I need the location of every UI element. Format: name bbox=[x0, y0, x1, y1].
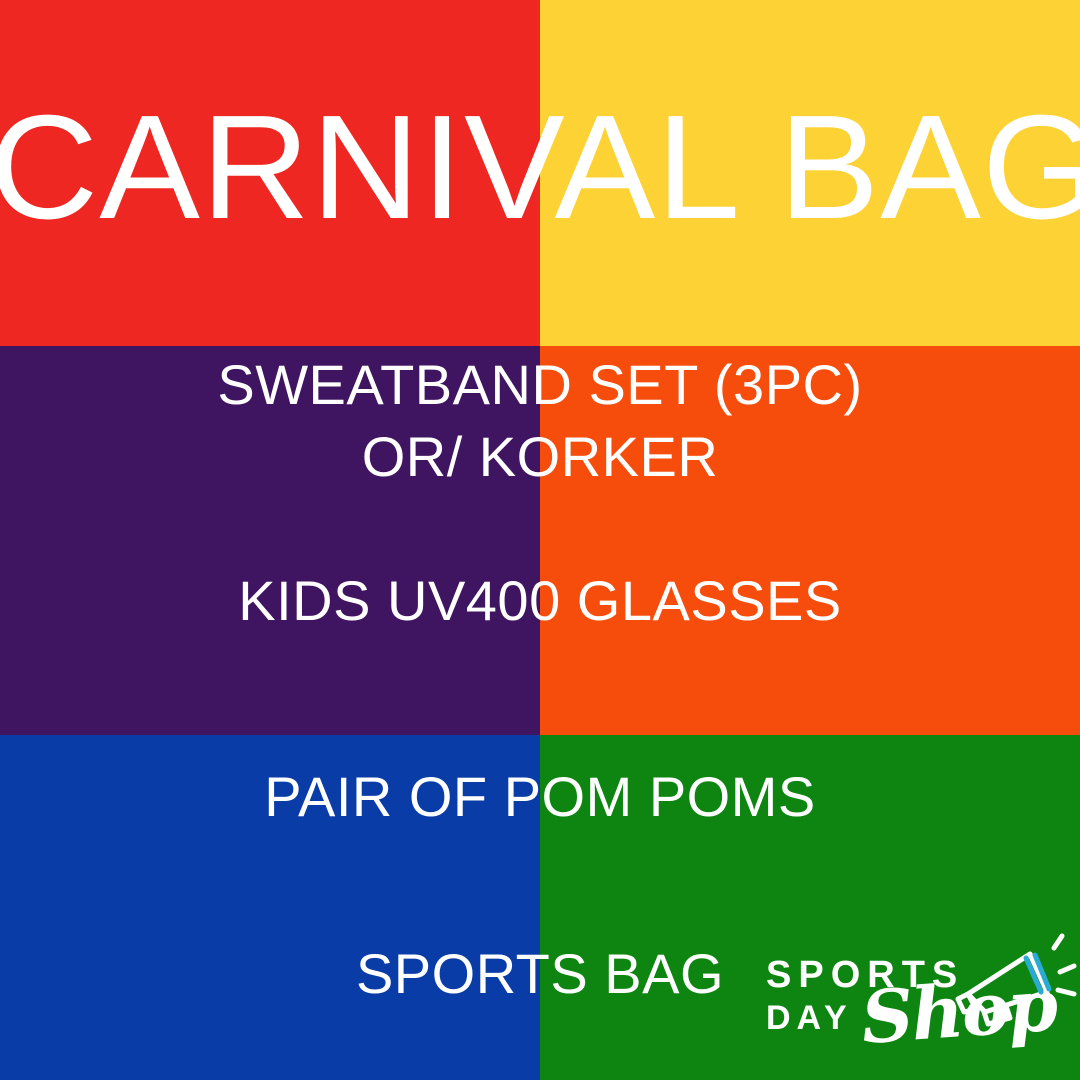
carnival-bag-poster: CARNIVAL BAG SWEATBAND SET (3PC) OR/ KOR… bbox=[0, 0, 1080, 1080]
megaphone-icon bbox=[948, 932, 1080, 1038]
sportsdayshop-logo: SPORTS DAY Shop bbox=[752, 938, 1072, 1068]
item-korker-alternative: OR/ KORKER bbox=[0, 424, 1080, 490]
poster-title: CARNIVAL BAG bbox=[0, 94, 1080, 242]
logo-word-day: DAY bbox=[766, 1001, 853, 1035]
item-kids-uv400-glasses: KIDS UV400 GLASSES bbox=[0, 568, 1080, 634]
item-pair-of-pom-poms: PAIR OF POM POMS bbox=[0, 764, 1080, 830]
item-sweatband-set: SWEATBAND SET (3PC) bbox=[0, 352, 1080, 418]
